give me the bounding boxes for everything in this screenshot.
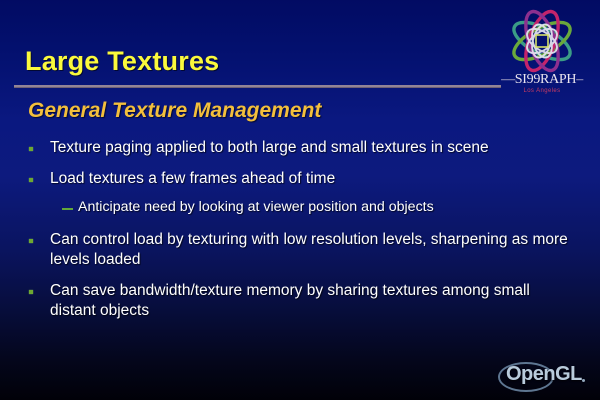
square-bullet-icon [29, 290, 33, 294]
list-item-label: Texture paging applied to both large and… [50, 138, 578, 158]
opengl-dot-icon [582, 379, 585, 382]
page-title: Large Textures [25, 46, 219, 77]
title-divider [14, 85, 501, 88]
square-bullet-icon [29, 147, 33, 151]
opengl-wordmark: OpenGL [506, 363, 582, 386]
siggraph-logo: —SI99RAPH– Los Angeles [490, 8, 594, 104]
square-bullet-icon [29, 239, 33, 243]
list-item-label: Can control load by texturing with low r… [50, 230, 578, 270]
siggraph-rings-icon [502, 8, 582, 74]
list-item-label: Load textures a few frames ahead of time [50, 169, 578, 189]
bullet-list: Texture paging applied to both large and… [0, 138, 600, 332]
list-item: Load textures a few frames ahead of time [0, 169, 600, 189]
list-item-label: Can save bandwidth/texture memory by sha… [50, 281, 578, 321]
wordmark-text: SI99RAPH [515, 72, 576, 87]
siggraph-city-label: Los Angeles [490, 88, 594, 94]
list-item: Anticipate need by looking at viewer pos… [0, 198, 600, 217]
list-item: Can save bandwidth/texture memory by sha… [0, 281, 600, 321]
slide-canvas: Large Textures General Texture Managemen… [0, 0, 600, 400]
wordmark-dash-right: – [576, 72, 583, 87]
list-item: Texture paging applied to both large and… [0, 138, 600, 158]
list-item: Can control load by texturing with low r… [0, 230, 600, 270]
square-bullet-icon [29, 178, 33, 182]
dash-bullet-icon [62, 208, 73, 210]
siggraph-wordmark: —SI99RAPH– [490, 72, 594, 88]
wordmark-dash-left: — [501, 72, 515, 87]
opengl-logo: OpenGL [496, 358, 592, 392]
slide-subtitle: General Texture Management [28, 99, 321, 123]
list-item-label: Anticipate need by looking at viewer pos… [78, 198, 578, 217]
